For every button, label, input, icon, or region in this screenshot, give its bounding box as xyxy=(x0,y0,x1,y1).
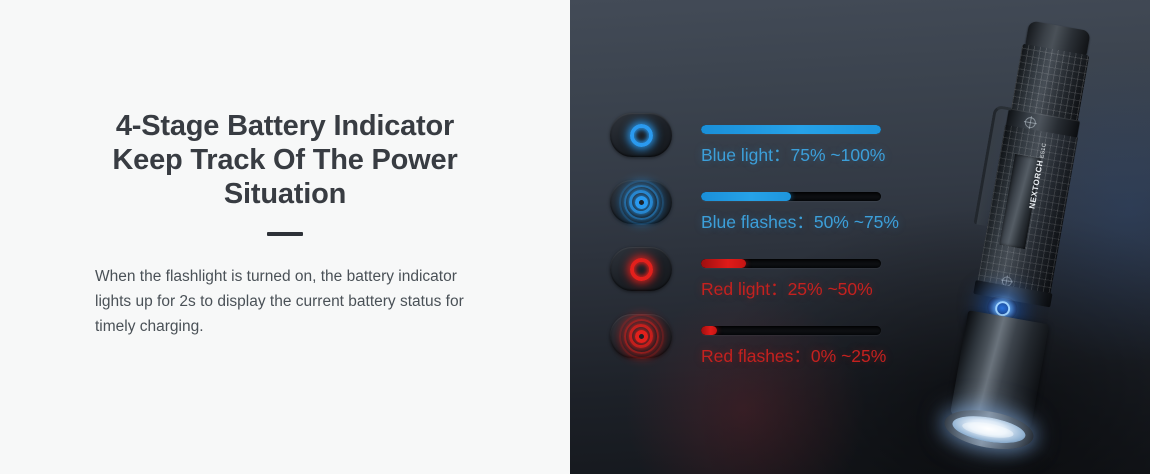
red-steady-ring-icon xyxy=(621,249,661,289)
battery-bar-fill-3 xyxy=(701,259,746,268)
indicator-button-4 xyxy=(610,314,672,358)
list-item: Blue light：75% ~100% xyxy=(610,108,940,175)
ring-core xyxy=(635,196,648,209)
indicator-label-1: Blue light：75% ~100% xyxy=(701,142,885,167)
battery-bar-fill-2 xyxy=(701,192,791,201)
blue-flashing-rings-icon xyxy=(621,182,661,222)
battery-bar-track-1 xyxy=(701,125,881,134)
blue-steady-ring-icon xyxy=(621,115,661,155)
ring-core xyxy=(630,124,653,147)
list-item: Red light：25% ~50% xyxy=(610,242,940,309)
battery-bar-track-3 xyxy=(701,259,881,268)
ring-core xyxy=(630,258,653,281)
battery-bar-fill-1 xyxy=(701,125,881,134)
product-image-panel: Blue light：75% ~100% Blue flashes：50% ~7… xyxy=(570,0,1150,474)
title-divider xyxy=(267,232,303,236)
description-paragraph: When the flashlight is turned on, the ba… xyxy=(95,264,475,339)
left-text-panel: 4-Stage Battery Indicator Keep Track Of … xyxy=(0,0,570,474)
indicator-button-3 xyxy=(610,247,672,291)
battery-indicator-legend: Blue light：75% ~100% Blue flashes：50% ~7… xyxy=(610,108,940,376)
ring-core xyxy=(635,330,648,343)
indicator-label-3: Red light：25% ~50% xyxy=(701,276,873,301)
red-flashing-rings-icon xyxy=(621,316,661,356)
list-item: Blue flashes：50% ~75% xyxy=(610,175,940,242)
indicator-button-1 xyxy=(610,113,672,157)
battery-indicator-feature-banner: 4-Stage Battery Indicator Keep Track Of … xyxy=(0,0,1150,474)
page-title: 4-Stage Battery Indicator Keep Track Of … xyxy=(85,109,485,212)
indicator-button-2 xyxy=(610,180,672,224)
battery-bar-track-2 xyxy=(701,192,881,201)
list-item: Red flashes：0% ~25% xyxy=(610,309,940,376)
battery-bar-track-4 xyxy=(701,326,881,335)
indicator-label-2: Blue flashes：50% ~75% xyxy=(701,209,899,234)
indicator-label-4: Red flashes：0% ~25% xyxy=(701,343,886,368)
battery-bar-fill-4 xyxy=(701,326,717,335)
